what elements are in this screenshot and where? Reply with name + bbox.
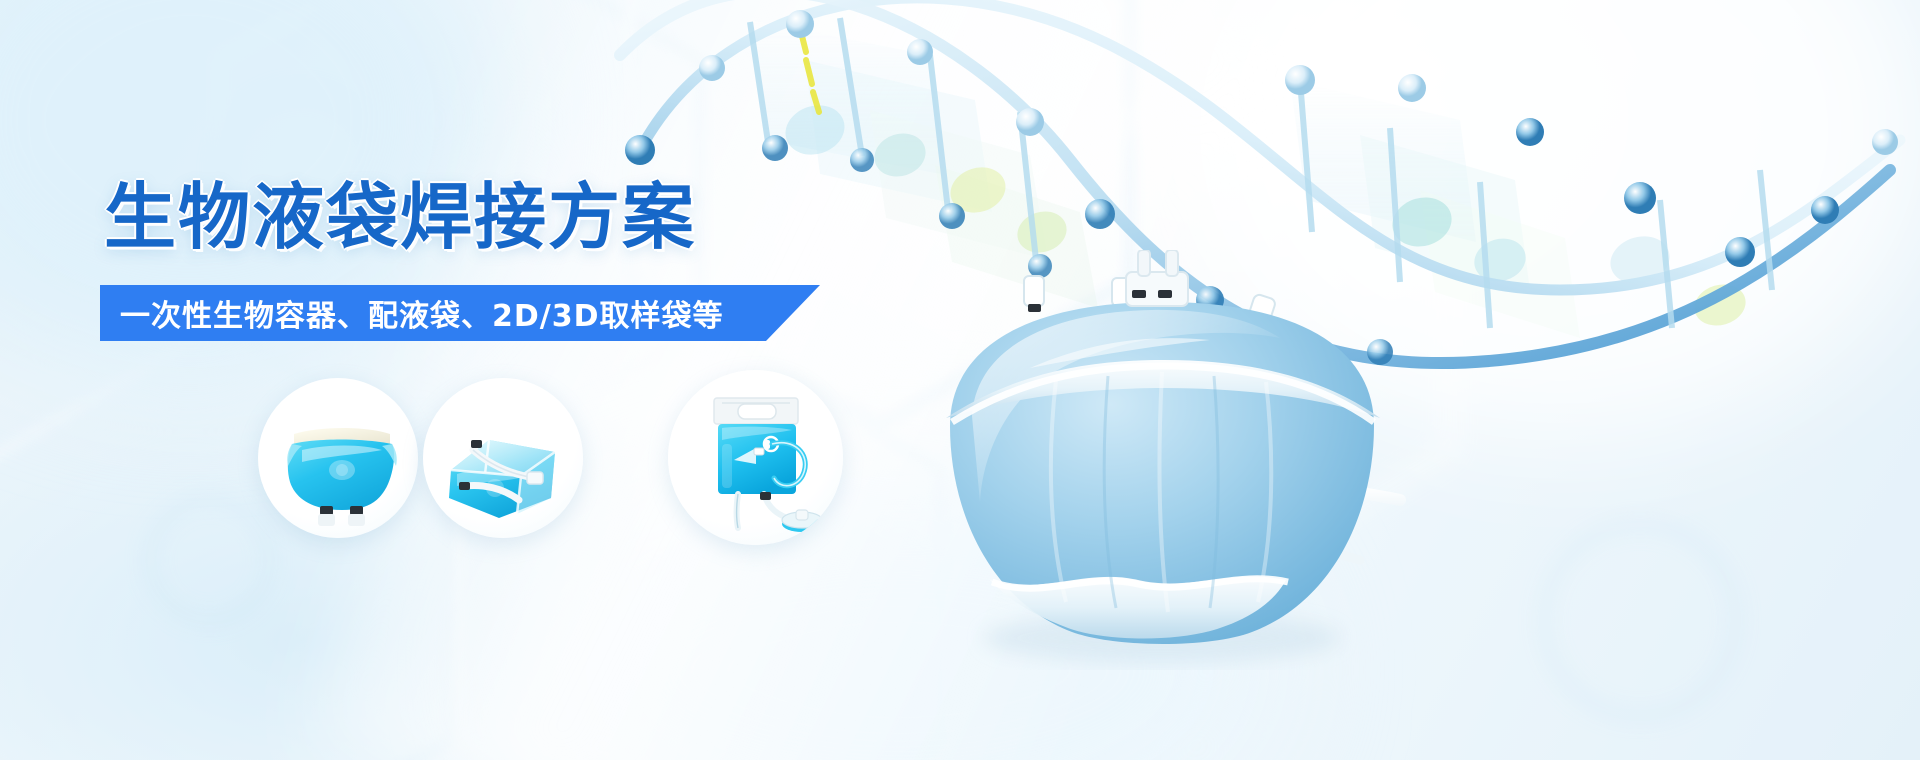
product-circle-2[interactable] — [423, 378, 583, 538]
hero-banner: 生物液袋焊接方案 一次性生物容器、配液袋、2D/3D取样袋等 — [0, 0, 1920, 760]
page-title: 生物液袋焊接方案 — [104, 176, 696, 258]
subtitle-text: 一次性生物容器、配液袋、2D/3D取样袋等 — [100, 291, 724, 335]
bioreactor-bag-icon — [880, 250, 1440, 670]
product-circle-3[interactable] — [668, 370, 843, 545]
product-circle-1[interactable] — [258, 378, 418, 538]
liquid-bag-2d-icon — [258, 378, 418, 538]
sampling-bag-handle-icon — [668, 370, 843, 545]
liquid-bag-3d-icon — [423, 378, 583, 538]
subtitle-banner: 一次性生物容器、配液袋、2D/3D取样袋等 — [100, 285, 820, 341]
